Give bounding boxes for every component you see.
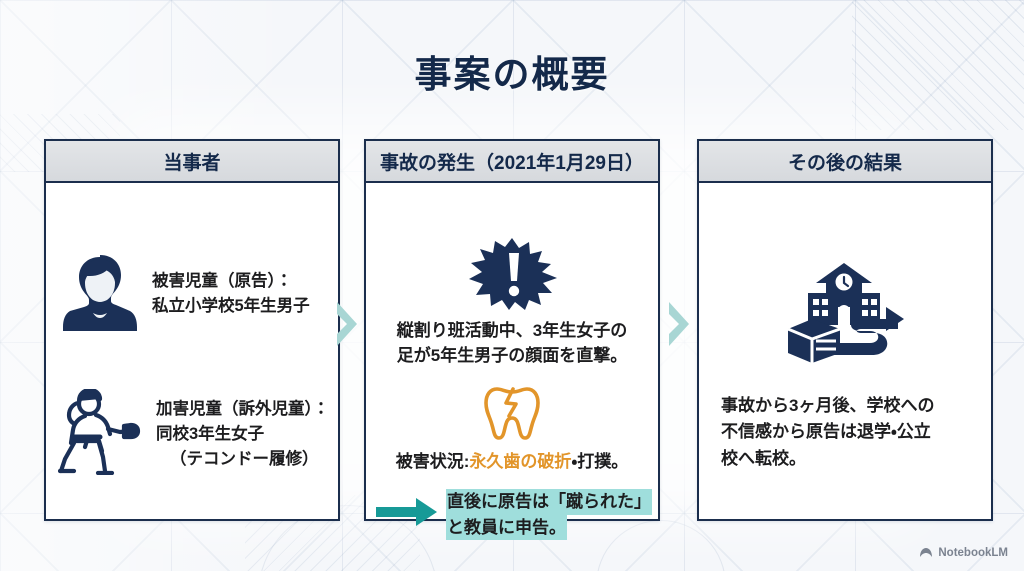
page-title: 事案の概要 [0,44,1024,98]
cracked-tooth-icon [483,386,541,447]
exclamation-burst-icon [466,237,558,316]
party-offender-line-3: （テコンドー履修） [156,447,329,472]
incident-description-line-2: 足が5年生男子の顔面を直撃。 [397,346,627,365]
party-victim-line-2: 私立小学校5年生男子 [152,297,310,315]
incident-description: 縦割り班活動中、3年生女子の 足が5年生男子の顔面を直撃。 [366,319,658,368]
list-item: 加害児童（訴外児童）： 同校3年生女子 （テコンドー履修） [58,389,329,480]
panel-body-parties: 被害児童（原告）： 私立小学校5年生男子 [46,183,338,519]
outcome-line-3: 校へ転校。 [721,449,806,468]
school-icon-wrap [699,261,991,370]
panel-outcome: その後の結果 [697,139,993,521]
incident-description-line-1: 縦割り班活動中、3年生女子の [397,321,627,340]
party-offender-line-1: 加害児童（訴外児童）： [156,400,329,418]
outcome-text: 事故から3ヶ月後、学校への 不信感から原告は退学・公立 校へ転校。 [721,393,981,472]
notebooklm-label: NotebookLM [938,547,1008,559]
injury-status-accent: 永久歯の破折 [469,452,571,471]
panel-incident: 事故の発生（2021年1月29日） 縦割り班活動中、3年生女子の 足が5年生男子… [364,139,660,521]
report-text: 直後に原告は「蹴られた」 と教員に申告。 [446,489,652,540]
panel-header-incident: 事故の発生（2021年1月29日） [366,141,658,183]
impact-icon-wrap [366,237,658,316]
notebooklm-watermark: NotebookLM [919,547,1008,559]
panel-header-outcome: その後の結果 [699,141,991,183]
report-callout: 直後に原告は「蹴られた」 と教員に申告。 [376,489,652,540]
report-line-2: と教員に申告。 [446,515,567,541]
party-offender-text: 加害児童（訴外児童）： 同校3年生女子 （テコンドー履修） [156,397,329,471]
panel-body-incident: 縦割り班活動中、3年生女子の 足が5年生男子の顔面を直撃。 被害状況:永久歯の破… [366,183,658,519]
chevron-right-icon [666,300,692,348]
party-victim-text: 被害児童（原告）： 私立小学校5年生男子 [152,269,310,319]
injury-status: 被害状況:永久歯の破折・打撲。 [366,447,658,472]
taekwondo-girl-icon [58,389,142,480]
chevron-right-icon [334,300,360,348]
party-offender-line-2: 同校3年生女子 [156,425,264,443]
outcome-line-1: 事故から3ヶ月後、学校への [721,396,934,415]
school-move-icon [786,261,904,370]
outcome-line-2: 不信感から原告は退学・公立 [721,422,931,441]
panel-body-outcome: 事故から3ヶ月後、学校への 不信感から原告は退学・公立 校へ転校。 [699,183,991,519]
teal-arrow-icon [376,497,438,532]
panel-header-parties: 当事者 [46,141,338,183]
notebooklm-logo-icon [919,547,933,559]
tooth-icon-wrap [366,386,658,447]
panel-parties: 当事者 被害児童（原告）： 私立小学校5年生男子 [44,139,340,521]
party-victim-line-1: 被害児童（原告）： [152,272,292,290]
injury-status-suffix: ・打撲。 [571,452,628,471]
list-item: 被害児童（原告）： 私立小学校5年生男子 [62,251,310,336]
injury-status-label: 被害状況: [396,452,470,471]
boy-avatar-icon [62,251,138,336]
report-line-1: 直後に原告は「蹴られた」 [446,489,652,515]
